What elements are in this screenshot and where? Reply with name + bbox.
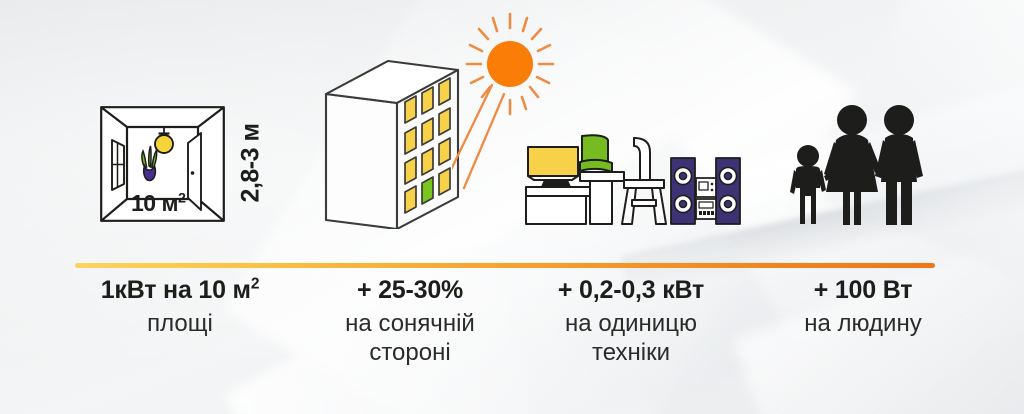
child-silhouette <box>790 145 826 224</box>
column-headline: + 25-30% <box>300 275 520 305</box>
subtext-line-1: на сонячній <box>345 310 475 337</box>
column-headline: 1кВт на 10 м2 <box>55 275 305 305</box>
column-people: + 100 Вт на людину <box>748 275 978 338</box>
subtext-line-2: техніки <box>516 338 746 367</box>
subtext-line-1: на одиницю <box>565 310 697 337</box>
apartment-building-icon <box>322 57 462 229</box>
column-sunny-side: + 25-30% на сонячній стороні <box>300 275 520 367</box>
column-subtext: на сонячній стороні <box>300 309 520 367</box>
subtext-line-1: на людину <box>804 310 921 337</box>
woman-silhouette <box>824 105 881 225</box>
column-area: 1кВт на 10 м2 площі <box>55 275 305 338</box>
infographic-canvas: 10 м2 2,8-3 м <box>0 0 1024 414</box>
room-height-label: 2,8-3 м <box>236 104 266 222</box>
column-headline: + 100 Вт <box>748 275 978 305</box>
headline-text: + 25-30% <box>357 276 463 304</box>
man-silhouette <box>875 105 923 225</box>
room-area-exponent: 2 <box>178 190 185 206</box>
column-appliances: + 0,2-0,3 кВт на одиницю техніки <box>516 275 746 367</box>
home-appliances-icon <box>524 132 742 228</box>
headline-text: + 100 Вт <box>814 276 913 304</box>
gradient-divider <box>75 263 935 268</box>
headline-exponent: 2 <box>251 276 259 293</box>
headline-text: + 0,2-0,3 кВт <box>558 276 704 304</box>
column-subtext: на одиницю техніки <box>516 309 746 367</box>
column-subtext: площі <box>55 309 305 338</box>
family-silhouette-icon <box>786 104 936 226</box>
column-headline: + 0,2-0,3 кВт <box>516 275 746 305</box>
subtext-line-1: площі <box>147 310 213 337</box>
column-subtext: на людину <box>748 309 978 338</box>
subtext-line-2: стороні <box>300 338 520 367</box>
headline-text: 1кВт на 10 м <box>101 276 251 304</box>
room-area-value: 10 м <box>131 190 178 216</box>
room-height-value: 2,8-3 м <box>237 124 266 203</box>
room-area-label: 10 м2 <box>131 190 185 217</box>
